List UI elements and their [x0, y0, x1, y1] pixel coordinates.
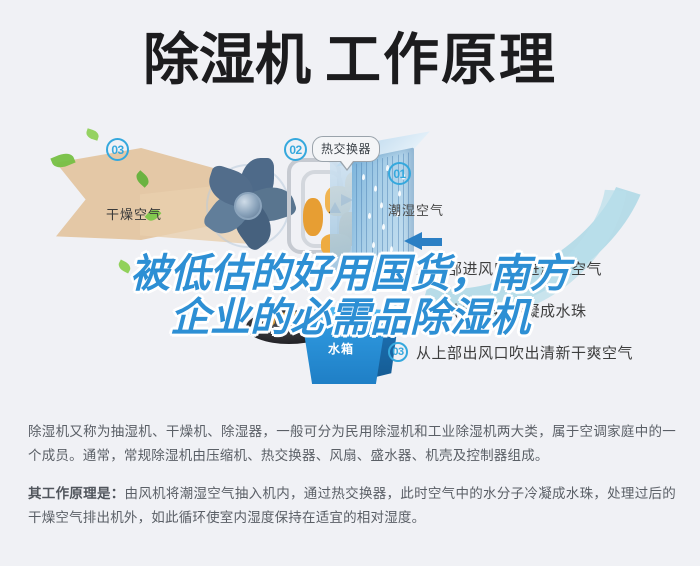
legend-text-01: 从下部进风口吸进潮湿空气 [416, 258, 602, 279]
page-title-part1: 除湿机 [143, 28, 311, 91]
heat-exchanger-callout-bubble: 热交换器 [312, 136, 380, 162]
legend-badge-03: 03 [388, 342, 408, 362]
callout-badge-03: 03 [106, 138, 129, 161]
body-paragraph-2-lead: 其工作原理是： [28, 486, 125, 501]
process-legend-list: 01 从下部进风口吸进潮湿空气 02 通过热交换器冷凝成水珠 03 从上部出风口… [388, 254, 688, 380]
page-title-part2: 工作原理 [325, 28, 557, 91]
condensation-droplet [398, 190, 401, 197]
callout-label-humid-air: 潮湿空气 [388, 200, 444, 219]
heat-exchanger-fin [372, 160, 373, 268]
legend-item: 02 通过热交换器冷凝成水珠 [388, 296, 688, 324]
leaf-icon [85, 128, 100, 141]
page-root: 除湿机工作原理 [0, 0, 700, 566]
legend-badge-01: 01 [388, 258, 408, 278]
fan-hub [234, 192, 262, 220]
legend-item: 01 从下部进风口吸进潮湿空气 [388, 254, 688, 282]
page-title-text: 除湿机工作原理 [143, 32, 557, 88]
heat-exchanger-fin [377, 159, 378, 267]
legend-text-03: 从上部出风口吹出清新干爽空气 [416, 342, 633, 363]
dehumidifier-diagram: 水箱 03 干燥空气 02 热交换器 01 潮湿空气 01 从下部进风口吸进潮湿… [0, 112, 700, 400]
water-tank-label: 水箱 [328, 340, 354, 357]
leaf-icon [117, 259, 133, 273]
condensation-droplet [368, 213, 371, 220]
airflow-arrow-icon [404, 232, 422, 250]
body-paragraph-2: 其工作原理是：由风机将潮湿空气抽入机内，通过热交换器，此时空气中的水分子冷凝成水… [28, 482, 676, 530]
legend-text-02: 通过热交换器冷凝成水珠 [416, 300, 587, 321]
callout-label-dry-air: 干燥空气 [106, 204, 162, 223]
legend-badge-02: 02 [388, 300, 408, 320]
heat-exchanger-fin [382, 158, 383, 266]
body-paragraph-1: 除湿机又称为抽湿机、干燥机、除湿器，一般可分为民用除湿机和工业除湿机两大类，属于… [28, 420, 676, 468]
body-paragraph-2-rest: 由风机将潮湿空气抽入机内，通过热交换器，此时空气中的水分子冷凝成水珠，处理过后的… [28, 486, 676, 525]
copper-coil [303, 198, 323, 236]
callout-badge-02: 02 [284, 138, 307, 161]
callout-badge-01: 01 [388, 162, 411, 185]
airflow-arrow-tail [420, 238, 442, 246]
heat-exchanger-fin [356, 164, 357, 272]
legend-item: 03 从上部出风口吹出清新干爽空气 [388, 338, 688, 366]
page-title: 除湿机工作原理 [0, 18, 700, 102]
condensation-droplet [362, 174, 365, 181]
condensation-droplet [372, 242, 375, 249]
article-body: 除湿机又称为抽湿机、干燥机、除湿器，一般可分为民用除湿机和工业除湿机两大类，属于… [28, 420, 676, 544]
condensation-droplet [382, 224, 385, 231]
